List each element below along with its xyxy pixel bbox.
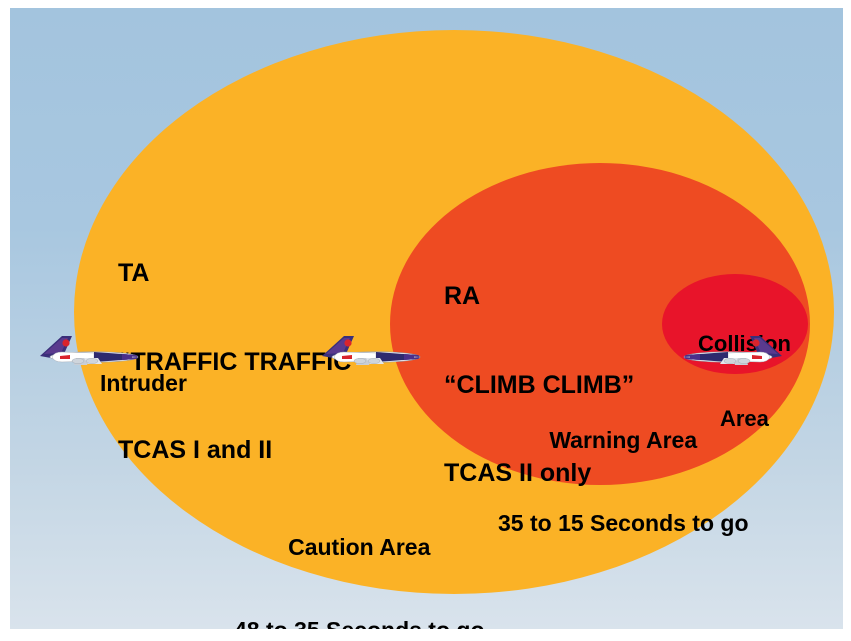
caution-area-caption: Caution Area 48 to 35 Seconds to go <box>234 479 485 629</box>
ta-code: TA <box>118 259 364 289</box>
diagram-canvas: TA “TRAFFIC TRAFFIC” TCAS I and II RA “C… <box>10 8 843 629</box>
warning-area-caption: Warning Area 35 to 15 Seconds to go <box>498 372 749 593</box>
warning-area-aircraft-icon <box>314 330 422 372</box>
intruder-label: Intruder <box>100 370 187 397</box>
warning-area-timing: 35 to 15 Seconds to go <box>498 510 749 538</box>
tcas-diagram: TA “TRAFFIC TRAFFIC” TCAS I and II RA “C… <box>0 0 851 641</box>
ra-code: RA <box>444 282 634 312</box>
caution-area-timing: 48 to 35 Seconds to go <box>234 617 485 629</box>
warning-area-name: Warning Area <box>498 427 749 455</box>
caution-area-name: Caution Area <box>234 534 485 562</box>
intruder-aircraft-icon <box>32 330 140 372</box>
ta-equipment: TCAS I and II <box>118 436 364 466</box>
collision-area-aircraft-icon <box>682 330 790 372</box>
